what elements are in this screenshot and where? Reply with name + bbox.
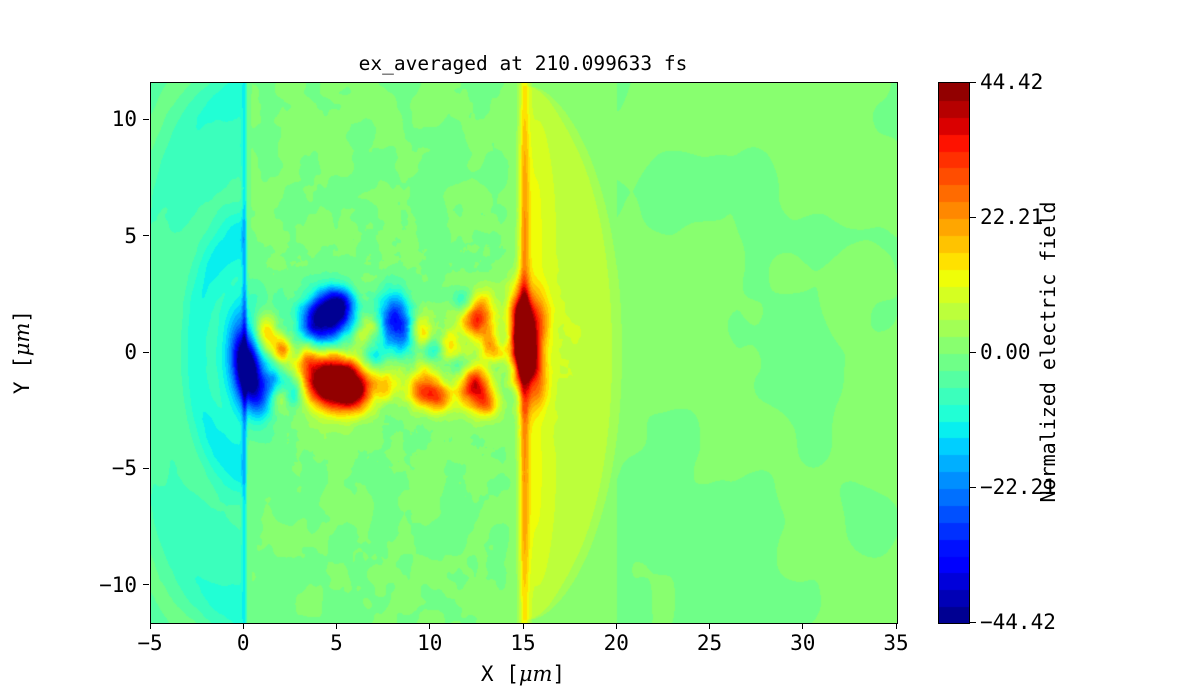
colorbar-tick-label: 0.00 — [980, 340, 1031, 364]
colorbar-tick-label: 22.21 — [980, 205, 1043, 229]
colorbar-tick-mark — [970, 622, 976, 623]
x-tick-label: 5 — [330, 631, 343, 655]
y-axis-label-suffix: ] — [10, 310, 34, 323]
colorbar-tick-label: −44.42 — [980, 610, 1056, 634]
y-tick-label: −5 — [112, 456, 137, 480]
x-tick-label: 0 — [237, 631, 250, 655]
x-tick-mark — [429, 623, 430, 629]
x-tick-mark — [616, 623, 617, 629]
colorbar-tick-mark — [970, 487, 976, 488]
x-tick-mark — [802, 623, 803, 629]
x-tick-mark — [336, 623, 337, 629]
colorbar — [938, 82, 970, 624]
x-tick-label: 20 — [604, 631, 629, 655]
colorbar-tick-mark — [970, 352, 976, 353]
x-tick-mark — [150, 623, 151, 629]
field-heatmap — [151, 83, 897, 623]
x-tick-label: 15 — [510, 631, 535, 655]
y-tick-label: 5 — [124, 224, 137, 248]
x-tick-label: 10 — [417, 631, 442, 655]
x-axis-label: X [μm] — [150, 662, 896, 686]
y-tick-mark — [143, 119, 149, 120]
colorbar-tick-mark — [970, 217, 976, 218]
x-tick-label: 30 — [790, 631, 815, 655]
x-tick-mark — [896, 623, 897, 629]
y-tick-mark — [143, 352, 149, 353]
x-tick-label: −5 — [137, 631, 162, 655]
x-tick-mark — [243, 623, 244, 629]
x-tick-label: 25 — [697, 631, 722, 655]
y-tick-label: −10 — [99, 573, 137, 597]
y-tick-mark — [143, 235, 149, 236]
x-tick-label: 35 — [883, 631, 908, 655]
page-title: ex_averaged at 210.099633 fs — [150, 52, 896, 75]
x-axis-label-suffix: ] — [552, 662, 565, 686]
y-tick-mark — [143, 584, 149, 585]
y-tick-mark — [143, 468, 149, 469]
colorbar-tick-mark — [970, 82, 976, 83]
colorbar-gradient — [939, 83, 969, 623]
colorbar-label: Normalized electric field — [1036, 201, 1060, 502]
y-axis-label-prefix: Y [ — [10, 356, 34, 394]
y-axis-label: Y [μm] — [10, 310, 34, 394]
y-tick-label: 0 — [124, 340, 137, 364]
x-tick-mark — [523, 623, 524, 629]
y-tick-label: 10 — [112, 107, 137, 131]
heatmap-axes — [150, 82, 898, 624]
x-axis-label-unit: μm — [519, 662, 553, 686]
colorbar-tick-label: 44.42 — [980, 70, 1043, 94]
figure-canvas: ex_averaged at 210.099633 fs −5051015202… — [0, 0, 1200, 700]
y-axis-label-unit: μm — [10, 323, 34, 357]
x-tick-mark — [709, 623, 710, 629]
x-axis-label-prefix: X [ — [481, 662, 519, 686]
